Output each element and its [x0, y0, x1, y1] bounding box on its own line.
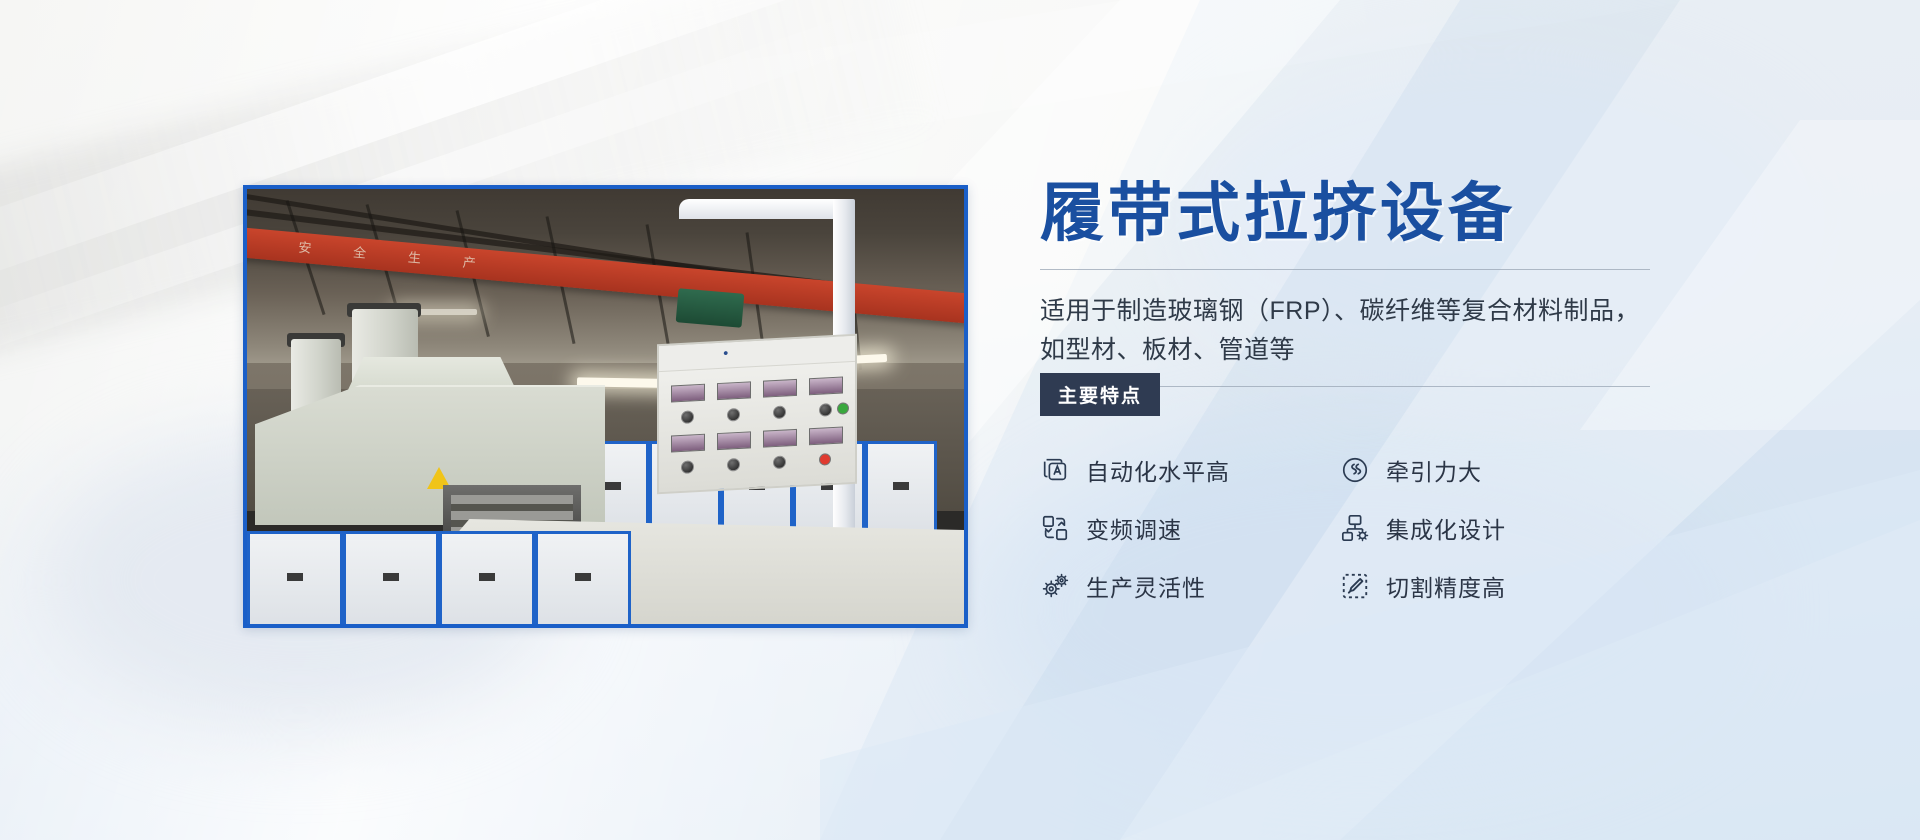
integrated-sitemap-gear-icon	[1340, 513, 1370, 543]
gears-icon	[1040, 571, 1070, 601]
photo-panel-meter	[809, 376, 843, 395]
feature-label: 自动化水平高	[1086, 453, 1230, 487]
photo-panel-meter	[671, 384, 705, 403]
photo-panel-meter	[717, 431, 751, 450]
feature-label: 集成化设计	[1386, 511, 1506, 545]
photo-panel-knob	[727, 458, 740, 472]
photo-cabinet	[535, 531, 631, 624]
photo-panel-lamp-red	[819, 453, 831, 466]
badge-wrapper: 主要特点	[1040, 373, 1700, 419]
photo-panel-meter	[671, 434, 705, 453]
photo-control-panel: ●	[657, 334, 857, 494]
feature-list: 自动化水平高 牵引力大	[1040, 453, 1700, 603]
photo-cabinet	[439, 531, 535, 624]
traction-waves-circle-icon	[1340, 455, 1370, 485]
banner-content: 履带式拉挤设备 适用于制造玻璃钢（FRP）、碳纤维等复合材料制品，如型材、板材、…	[1040, 180, 1700, 603]
photo-panel-meter	[763, 379, 797, 398]
feature-label: 生产灵活性	[1086, 569, 1206, 603]
photo-cabinet	[343, 531, 439, 624]
photo-panel-knob	[773, 455, 786, 469]
feature-item-frequency[interactable]: 变频调速	[1040, 511, 1340, 545]
photo-hoist	[676, 288, 745, 328]
photo-panel-lamp-green	[837, 402, 849, 415]
status-badge: 主要特点	[1040, 373, 1160, 416]
feature-item-flexibility[interactable]: 生产灵活性	[1040, 569, 1340, 603]
frequency-exchange-squares-icon	[1040, 513, 1070, 543]
photo-panel-knob	[681, 460, 694, 474]
banner-subtitle: 适用于制造玻璃钢（FRP）、碳纤维等复合材料制品，如型材、板材、管道等	[1040, 292, 1640, 370]
photo-cabinet-row-front	[247, 531, 631, 624]
photo-cabinet	[247, 531, 343, 624]
feature-item-automation[interactable]: 自动化水平高	[1040, 453, 1340, 487]
feature-item-traction[interactable]: 牵引力大	[1340, 453, 1640, 487]
photo-panel-knob	[681, 410, 694, 424]
photo-panel-knob	[773, 405, 786, 419]
product-photo: 安全生产	[247, 189, 964, 624]
photo-gantry-top	[679, 199, 855, 219]
feature-item-integration[interactable]: 集成化设计	[1340, 511, 1640, 545]
photo-panel-meter	[717, 381, 751, 400]
photo-panel-logo: ●	[723, 347, 729, 357]
divider-top	[1040, 269, 1650, 270]
photo-cabinet	[865, 441, 937, 537]
automation-copy-a-icon	[1040, 455, 1070, 485]
feature-label: 切割精度高	[1386, 569, 1506, 603]
feature-label: 变频调速	[1086, 511, 1182, 545]
product-banner: 安全生产	[0, 0, 1920, 840]
dashed-pen-precision-icon	[1340, 571, 1370, 601]
photo-panel-knob	[819, 403, 832, 417]
feature-item-precision[interactable]: 切割精度高	[1340, 569, 1640, 603]
page-title: 履带式拉挤设备	[1040, 180, 1700, 247]
product-photo-card[interactable]: 安全生产	[243, 185, 968, 628]
photo-panel-meter	[763, 429, 797, 448]
feature-label: 牵引力大	[1386, 453, 1482, 487]
photo-panel-meter	[809, 426, 843, 445]
photo-panel-knob	[727, 408, 740, 422]
